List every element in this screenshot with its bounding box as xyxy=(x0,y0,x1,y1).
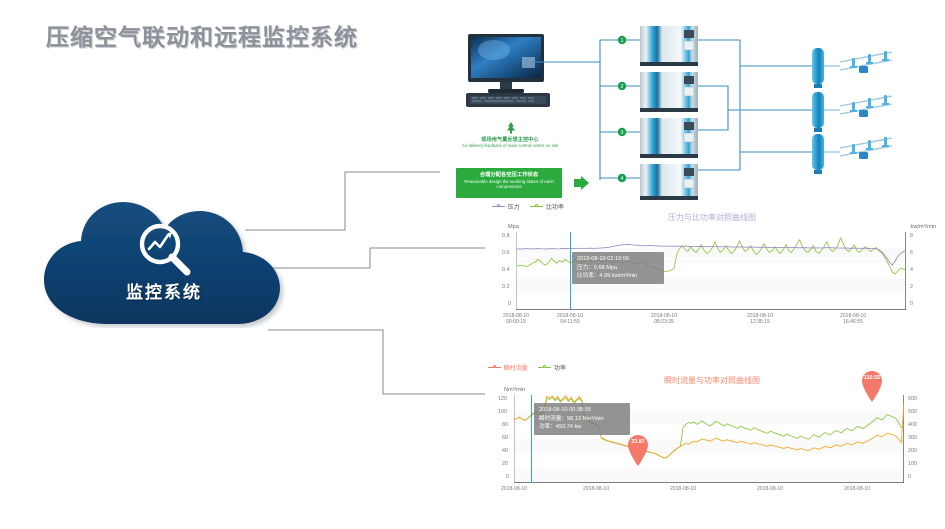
chart2-y2tick-2: 400 xyxy=(908,422,917,428)
legend-label-pressure: 压力 xyxy=(508,205,520,211)
legend-marker-specific-power xyxy=(530,204,543,210)
chart2-y2tick-0: 600 xyxy=(908,396,917,402)
chart2-ytick-2: 80 xyxy=(502,422,508,428)
system-topology-diagram: 现场用气量反馈主控中心 Air delivery feedback of mai… xyxy=(440,22,940,202)
page-title: 压缩空气联动和远程监控系统 xyxy=(46,18,358,52)
chart1-xtick-0: 2018-08-10 00:00:15 xyxy=(490,313,542,326)
chart1-tooltip-row-0: 压力：0.68 Mpa xyxy=(577,264,659,273)
chart2-max-marker-label: 110.55 xyxy=(860,375,884,381)
legend-label-power: 功率 xyxy=(554,366,566,372)
chart2-y2tick-5: 100 xyxy=(908,461,917,467)
chart2-legend[interactable]: 瞬时流量 功率 xyxy=(488,363,575,372)
chart2-ytick-0: 120 xyxy=(498,396,507,402)
svg-text:3: 3 xyxy=(621,130,624,136)
chart2-min-marker[interactable]: 33.87 xyxy=(626,434,650,466)
svg-text:2: 2 xyxy=(621,84,624,90)
chart2-max-marker[interactable]: 110.55 xyxy=(860,370,884,402)
chart2-y2tick-1: 500 xyxy=(908,409,917,415)
chart2-xtick-4: 2018-08-10 xyxy=(831,486,883,492)
chart2-xtick-0: 2018-08-10 xyxy=(488,486,540,492)
chart1-y2label: kw/m³/min xyxy=(911,224,936,230)
chart1-xtick-2: 2018-08-10 08:23:35 xyxy=(638,313,690,326)
legend-label-specific-power: 比功率 xyxy=(546,205,564,211)
chart1-tooltip-row-1: 比功率：4.99 kw/m³/min xyxy=(577,272,659,281)
svg-text:4: 4 xyxy=(621,176,624,182)
chart2-ytick-3: 60 xyxy=(502,435,508,441)
chart1-ytick-2: 0.4 xyxy=(502,267,510,273)
chart1-title: 压力与比功率对照曲线图 xyxy=(486,212,938,223)
flow-vs-power-chart[interactable]: 瞬时流量 功率 瞬时流量与功率对照曲线图 Nm³/min 120 100 80 … xyxy=(486,362,938,529)
slide-canvas: 压缩空气联动和远程监控系统 xyxy=(0,0,945,529)
legend-label-flow: 瞬时流量 xyxy=(504,366,528,372)
chart1-y2tick-0: 8 xyxy=(910,233,913,239)
chart1-y2tick-1: 6 xyxy=(910,250,913,256)
chart1-legend[interactable]: 压力 比功率 xyxy=(492,202,573,211)
chart2-xtick-1: 2018-08-10 xyxy=(570,486,622,492)
chart1-ytick-0: 0.8 xyxy=(502,233,510,239)
chart2-tooltip-row-0: 瞬时流量：98.13 Nm³/min xyxy=(539,415,625,424)
chart1-ytick-4: 0 xyxy=(508,301,511,307)
chart1-ytick-3: 0.2 xyxy=(502,284,510,290)
monitoring-system-cloud[interactable]: 监控系统 xyxy=(38,196,290,328)
chart2-tooltip: 2018-08-10 00:38:55 瞬时流量：98.13 Nm³/min 功… xyxy=(534,403,630,435)
legend-item-flow[interactable]: 瞬时流量 xyxy=(488,363,528,372)
chart-magnifier-icon xyxy=(136,222,194,283)
pressure-vs-specific-power-chart[interactable]: 压力 比功率 压力与比功率对照曲线图 Mpa kw/m³/min 0.8 0.6… xyxy=(486,200,938,335)
legend-item-pressure[interactable]: 压力 xyxy=(492,202,520,211)
chart2-tooltip-timestamp: 2018-08-10 00:38:55 xyxy=(539,406,625,415)
chart1-ylabel: Mpa xyxy=(508,224,519,230)
legend-marker-flow xyxy=(488,365,501,371)
chart2-xtick-3: 2018-08-10 xyxy=(744,486,796,492)
chart1-xtick-4: 2018-08-10 16:46:55 xyxy=(827,313,879,326)
chart1-tooltip-timestamp: 2018-08-10 02:19:55 xyxy=(577,255,659,264)
chart1-tooltip: 2018-08-10 02:19:55 压力：0.68 Mpa 比功率：4.99… xyxy=(572,252,664,284)
chart1-xtick-1: 2018-08-10 04:11:55 xyxy=(544,313,596,326)
chart2-cursor-line[interactable] xyxy=(531,395,532,483)
svg-text:1: 1 xyxy=(621,38,624,44)
chart2-ytick-4: 40 xyxy=(502,448,508,454)
chart1-ytick-1: 0.6 xyxy=(502,250,510,256)
chart1-y2tick-4: 0 xyxy=(910,301,913,307)
legend-item-specific-power[interactable]: 比功率 xyxy=(530,202,564,211)
chart1-xtick-3: 2018-08-10 12:35:15 xyxy=(734,313,786,326)
chart2-ytick-5: 20 xyxy=(502,461,508,467)
chart2-tooltip-row-1: 功率：493.74 kw xyxy=(539,423,625,432)
chart2-xtick-2: 2018-08-10 xyxy=(657,486,709,492)
piping-schematic: 1 2 3 4 xyxy=(440,22,940,202)
legend-item-power[interactable]: 功率 xyxy=(538,363,566,372)
chart2-y2tick-3: 300 xyxy=(908,435,917,441)
chart2-min-marker-label: 33.87 xyxy=(626,439,650,445)
legend-marker-pressure xyxy=(492,204,505,210)
chart1-y2tick-2: 4 xyxy=(910,267,913,273)
chart2-y2tick-4: 200 xyxy=(908,448,917,454)
chart2-ytick-1: 100 xyxy=(498,409,507,415)
chart2-ylabel: Nm³/min xyxy=(504,387,525,393)
chart1-y2tick-3: 2 xyxy=(910,284,913,290)
chart2-y2tick-6: 0 xyxy=(908,474,911,480)
legend-marker-power xyxy=(538,365,551,371)
chart2-ytick-6: 0 xyxy=(506,474,509,480)
